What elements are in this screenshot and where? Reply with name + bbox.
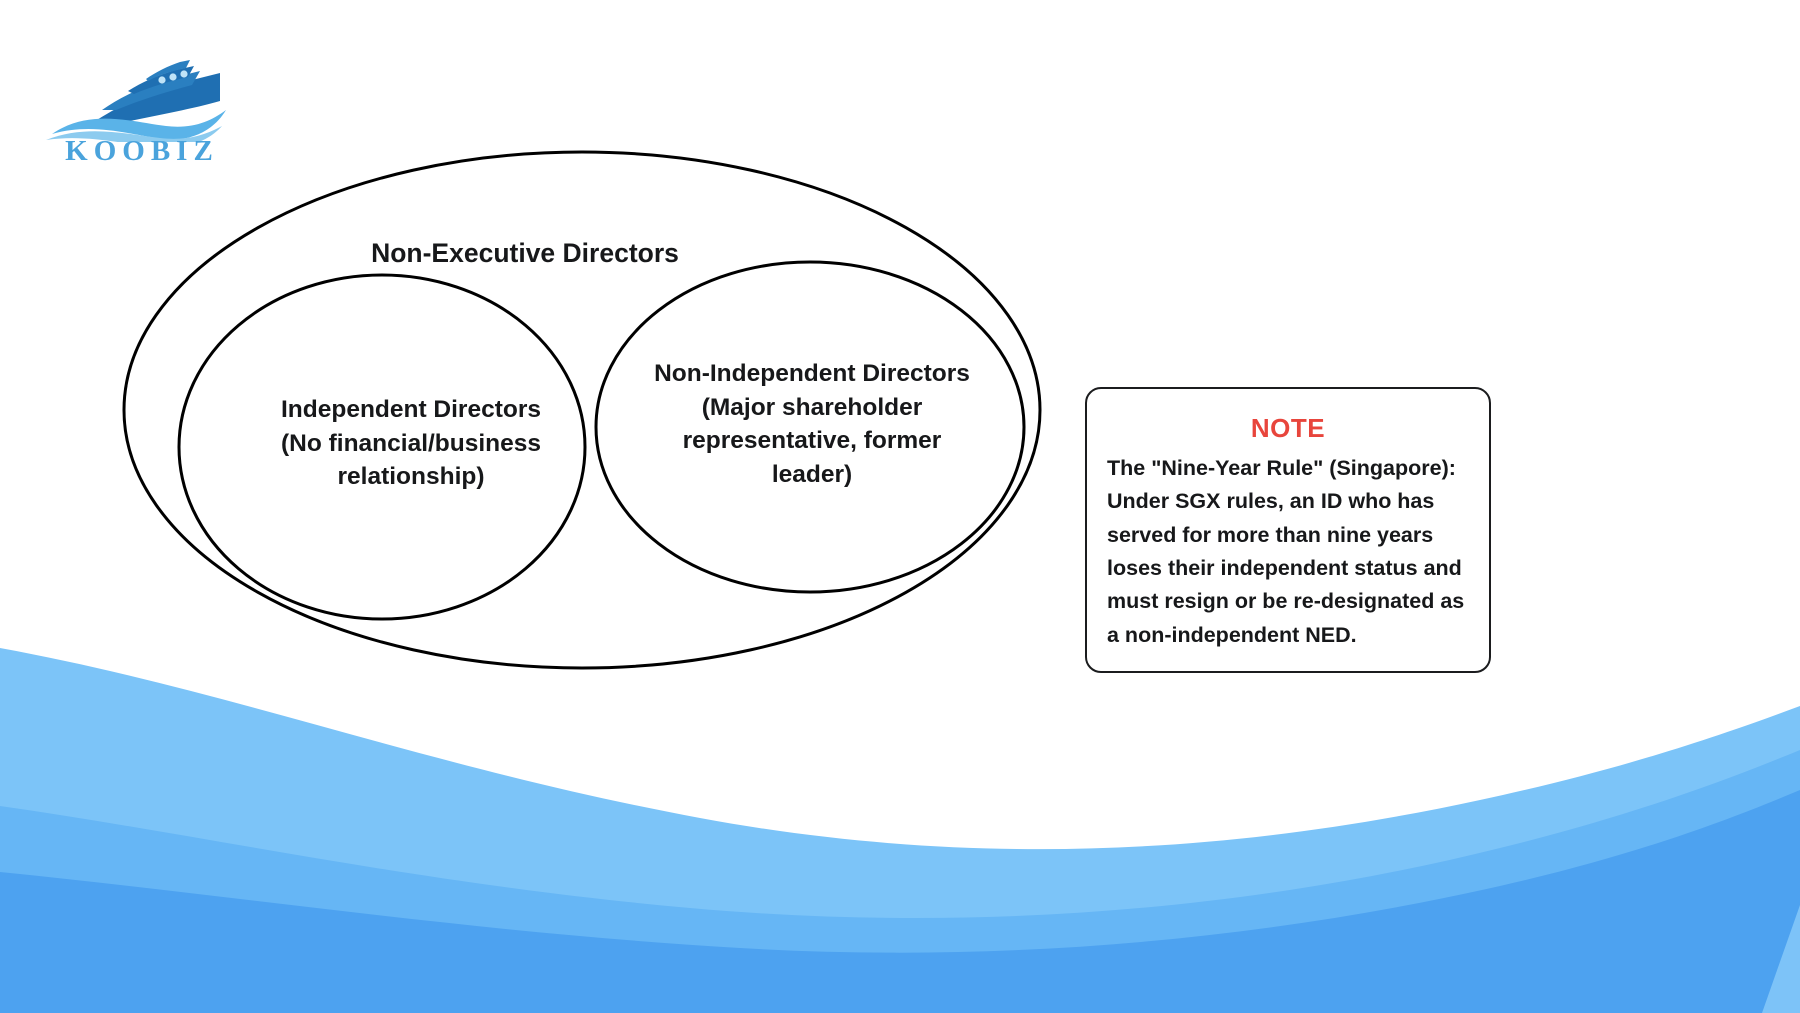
wave-light-layer <box>0 648 1800 1013</box>
note-title: NOTE <box>1107 413 1469 444</box>
venn-label-non-executive-directors: Non-Executive Directors <box>315 235 735 271</box>
venn-diagram: Non-Executive Directors Independent Dire… <box>110 140 1080 685</box>
wave-dark-layer <box>0 790 1800 1013</box>
note-card: NOTE The "Nine-Year Rule" (Singapore): U… <box>1085 387 1491 673</box>
slide-canvas: KOOBIZ Non-Executive Directors Independe… <box>0 0 1800 1013</box>
wave-corner-accent <box>1762 905 1800 1013</box>
venn-label-independent-directors: Independent Directors (No financial/busi… <box>235 393 587 494</box>
wave-mid-layer <box>0 750 1800 1013</box>
note-body-text: The "Nine-Year Rule" (Singapore): Under … <box>1107 452 1469 652</box>
venn-label-non-independent-directors: Non-Independent Directors (Major shareho… <box>632 357 992 491</box>
ship-wave-logo-icon <box>42 52 242 142</box>
